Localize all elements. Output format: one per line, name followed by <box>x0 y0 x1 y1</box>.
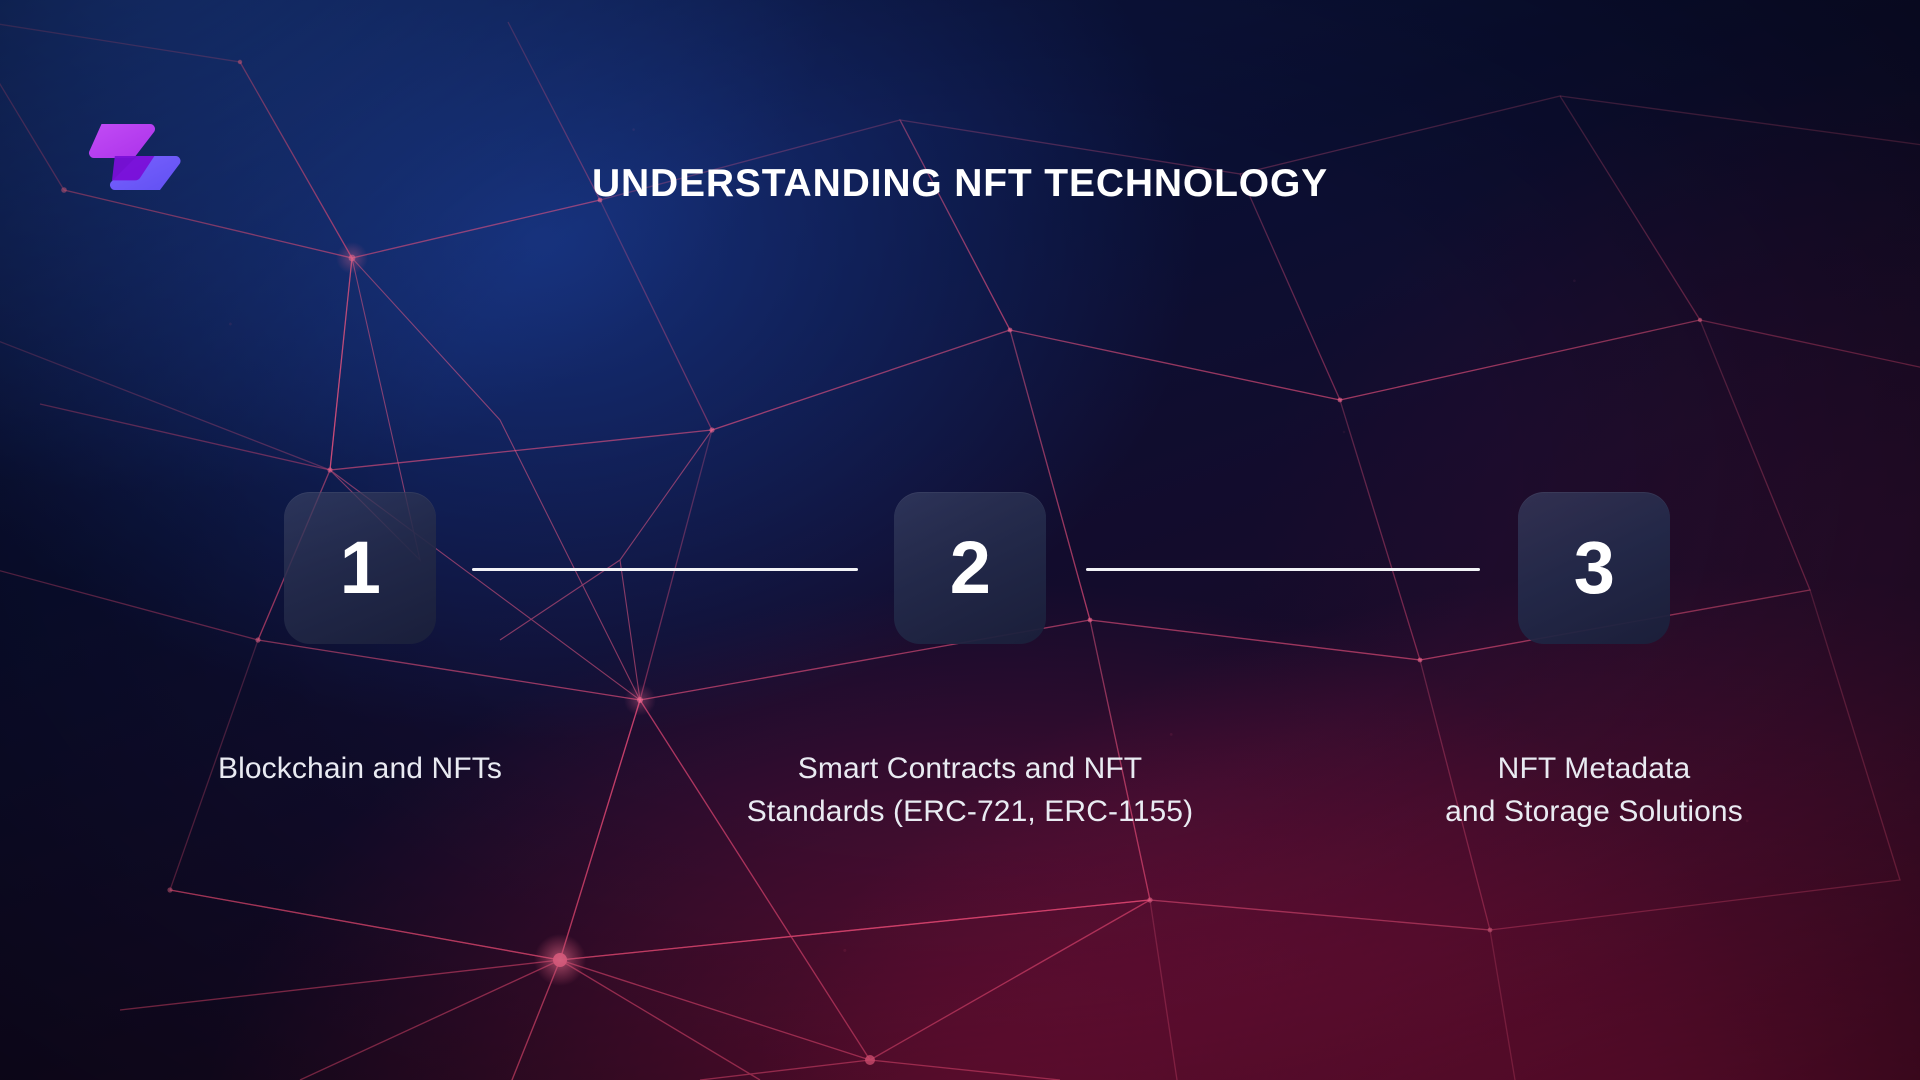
step-box-1[interactable]: 1 <box>284 492 436 644</box>
page-title: UNDERSTANDING NFT TECHNOLOGY <box>0 163 1920 206</box>
step-caption-3: NFT Metadata and Storage Solutions <box>1324 748 1864 833</box>
presentation-slide: UNDERSTANDING NFT TECHNOLOGY 1 2 3 Block… <box>0 0 1920 1080</box>
step-number: 3 <box>1574 531 1614 605</box>
connector-1-2 <box>472 568 858 571</box>
steps-row: 1 2 3 <box>0 492 1920 644</box>
step-box-3[interactable]: 3 <box>1518 492 1670 644</box>
step-number: 2 <box>950 531 990 605</box>
step-caption-2: Smart Contracts and NFT Standards (ERC-7… <box>690 748 1250 833</box>
step-caption-1: Blockchain and NFTs <box>110 748 610 791</box>
step-box-2[interactable]: 2 <box>894 492 1046 644</box>
connector-2-3 <box>1086 568 1480 571</box>
step-number: 1 <box>340 531 380 605</box>
